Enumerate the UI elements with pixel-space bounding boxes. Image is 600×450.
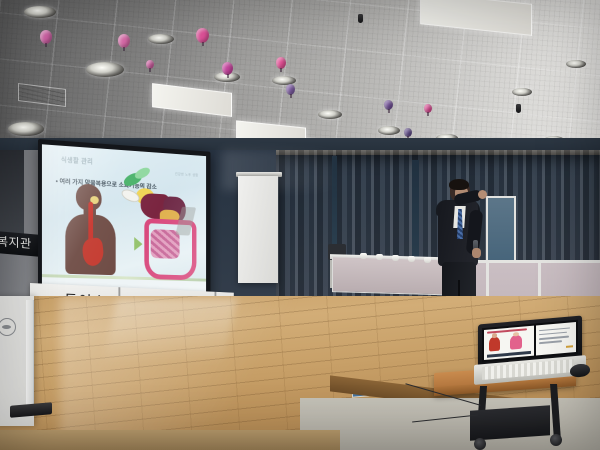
presenter-hair bbox=[449, 179, 469, 190]
sprinkler-icon bbox=[358, 14, 363, 23]
cup bbox=[408, 256, 415, 262]
human-torso-digestive-graphic bbox=[64, 182, 116, 274]
pulldown-whiteboard-screen bbox=[238, 176, 278, 283]
slide-figure bbox=[489, 336, 500, 351]
ceiling bbox=[0, 0, 600, 152]
projection-screen: 식생활 관리 건강한 노후 생활 • 여러 가지 약물복용으로 소화기능의 감소 bbox=[38, 139, 210, 306]
slide-text-line bbox=[539, 327, 570, 331]
presenter-view-current-slide[interactable] bbox=[484, 326, 534, 360]
digestive-system-graphic bbox=[141, 190, 190, 276]
slide-text-line bbox=[539, 336, 569, 340]
presenter-view-next-slide[interactable] bbox=[536, 322, 576, 355]
podium-logo-icon bbox=[0, 318, 16, 336]
downlight-icon bbox=[148, 34, 174, 44]
cup bbox=[360, 253, 367, 259]
downlight-icon bbox=[566, 60, 586, 68]
slide-footer-bar bbox=[487, 351, 531, 358]
av-cart-shelf bbox=[470, 405, 550, 441]
window-pane bbox=[486, 196, 516, 266]
sprinkler-icon bbox=[516, 104, 521, 113]
slide-text-line bbox=[539, 341, 562, 344]
cup bbox=[392, 255, 399, 261]
wall-sign: 복지관 bbox=[0, 231, 42, 257]
presenter-hand bbox=[472, 248, 481, 258]
presenter-laptop[interactable] bbox=[478, 320, 582, 382]
slide-title: 식생활 관리 bbox=[61, 155, 93, 166]
lecture-hall-photo: 복지관 식생활 관리 건강한 노후 생활 • 여러 가지 약물복용으로 소화기능… bbox=[0, 0, 600, 450]
av-cart-wheel bbox=[474, 438, 486, 450]
curtain-gap bbox=[332, 156, 337, 256]
slide-surface: 식생활 관리 건강한 노후 생활 • 여러 가지 약물복용으로 소화기능의 감소 bbox=[42, 144, 206, 300]
downlight-icon bbox=[86, 62, 124, 77]
acrylic-stand bbox=[26, 300, 34, 410]
wall-sign-text: 복지관 bbox=[0, 232, 32, 252]
downlight-icon bbox=[318, 110, 342, 119]
presenter-hand bbox=[478, 190, 487, 199]
cup bbox=[376, 254, 383, 260]
lower-floor-front bbox=[0, 430, 340, 450]
av-cart-wheel bbox=[550, 434, 562, 446]
slide-accent-mark bbox=[566, 345, 572, 348]
downlight-icon bbox=[512, 88, 532, 96]
slide-text-line bbox=[539, 332, 567, 336]
downlight-icon bbox=[378, 126, 400, 135]
left-wall-dark-panel bbox=[0, 150, 24, 236]
slide-corner-note: 건강한 노후 생활 bbox=[175, 171, 198, 177]
downlight-icon bbox=[24, 6, 56, 18]
downlight-icon bbox=[8, 122, 44, 136]
slide-figure bbox=[510, 335, 522, 349]
